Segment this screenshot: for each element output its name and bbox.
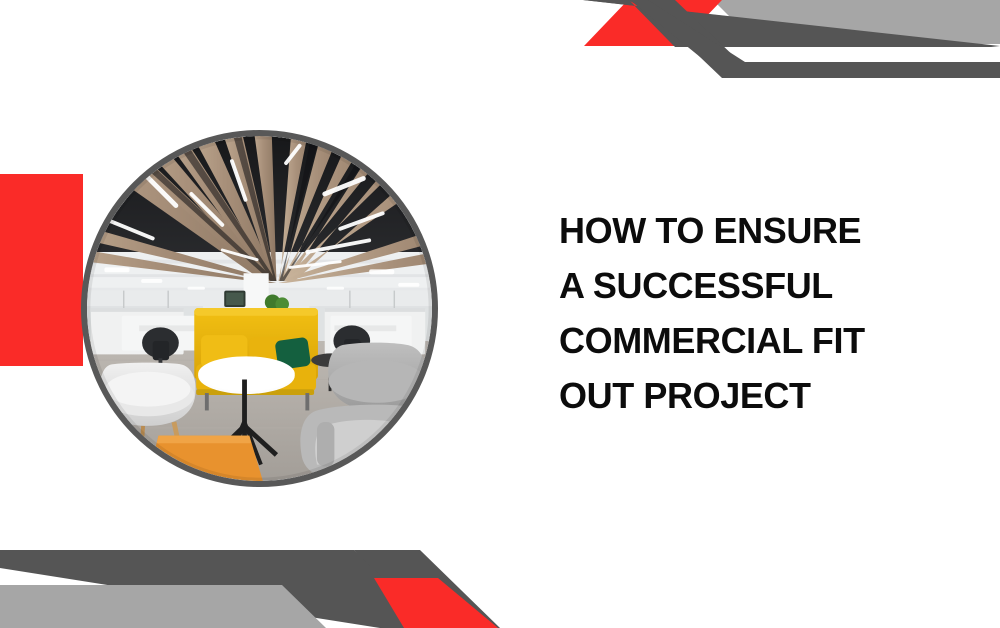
bottom-left-light-gray-chevron bbox=[0, 585, 326, 628]
headline-line-3: COMMERCIAL FIT bbox=[559, 313, 959, 368]
top-right-dark-gray-chevron bbox=[583, 0, 1000, 46]
hero-photo-circle bbox=[81, 130, 438, 487]
headline-block: HOW TO ENSURE A SUCCESSFUL COMMERCIAL FI… bbox=[559, 203, 959, 423]
left-red-accent-block bbox=[0, 174, 83, 366]
headline-line-2: A SUCCESSFUL bbox=[559, 258, 959, 313]
bottom-left-dark-gray-diagonal bbox=[354, 550, 500, 628]
hero-photo bbox=[87, 136, 432, 481]
bottom-left-red-parallelogram bbox=[374, 578, 498, 628]
top-right-dark-gray-diagonal bbox=[583, 0, 1000, 78]
banner-canvas: HOW TO ENSURE A SUCCESSFUL COMMERCIAL FI… bbox=[0, 0, 1000, 628]
top-right-light-gray-chevron bbox=[713, 0, 1000, 44]
bottom-left-dark-gray-bar bbox=[0, 550, 443, 628]
office-interior-illustration bbox=[87, 136, 432, 481]
headline-line-4: OUT PROJECT bbox=[559, 368, 959, 423]
top-right-light-gray-extension bbox=[757, 0, 1000, 44]
top-right-dark-gray-bar bbox=[583, 0, 1000, 47]
top-right-dark-gray-lower-bar bbox=[628, 0, 1000, 78]
top-right-red-parallelogram bbox=[584, 0, 722, 46]
headline-line-1: HOW TO ENSURE bbox=[559, 203, 959, 258]
